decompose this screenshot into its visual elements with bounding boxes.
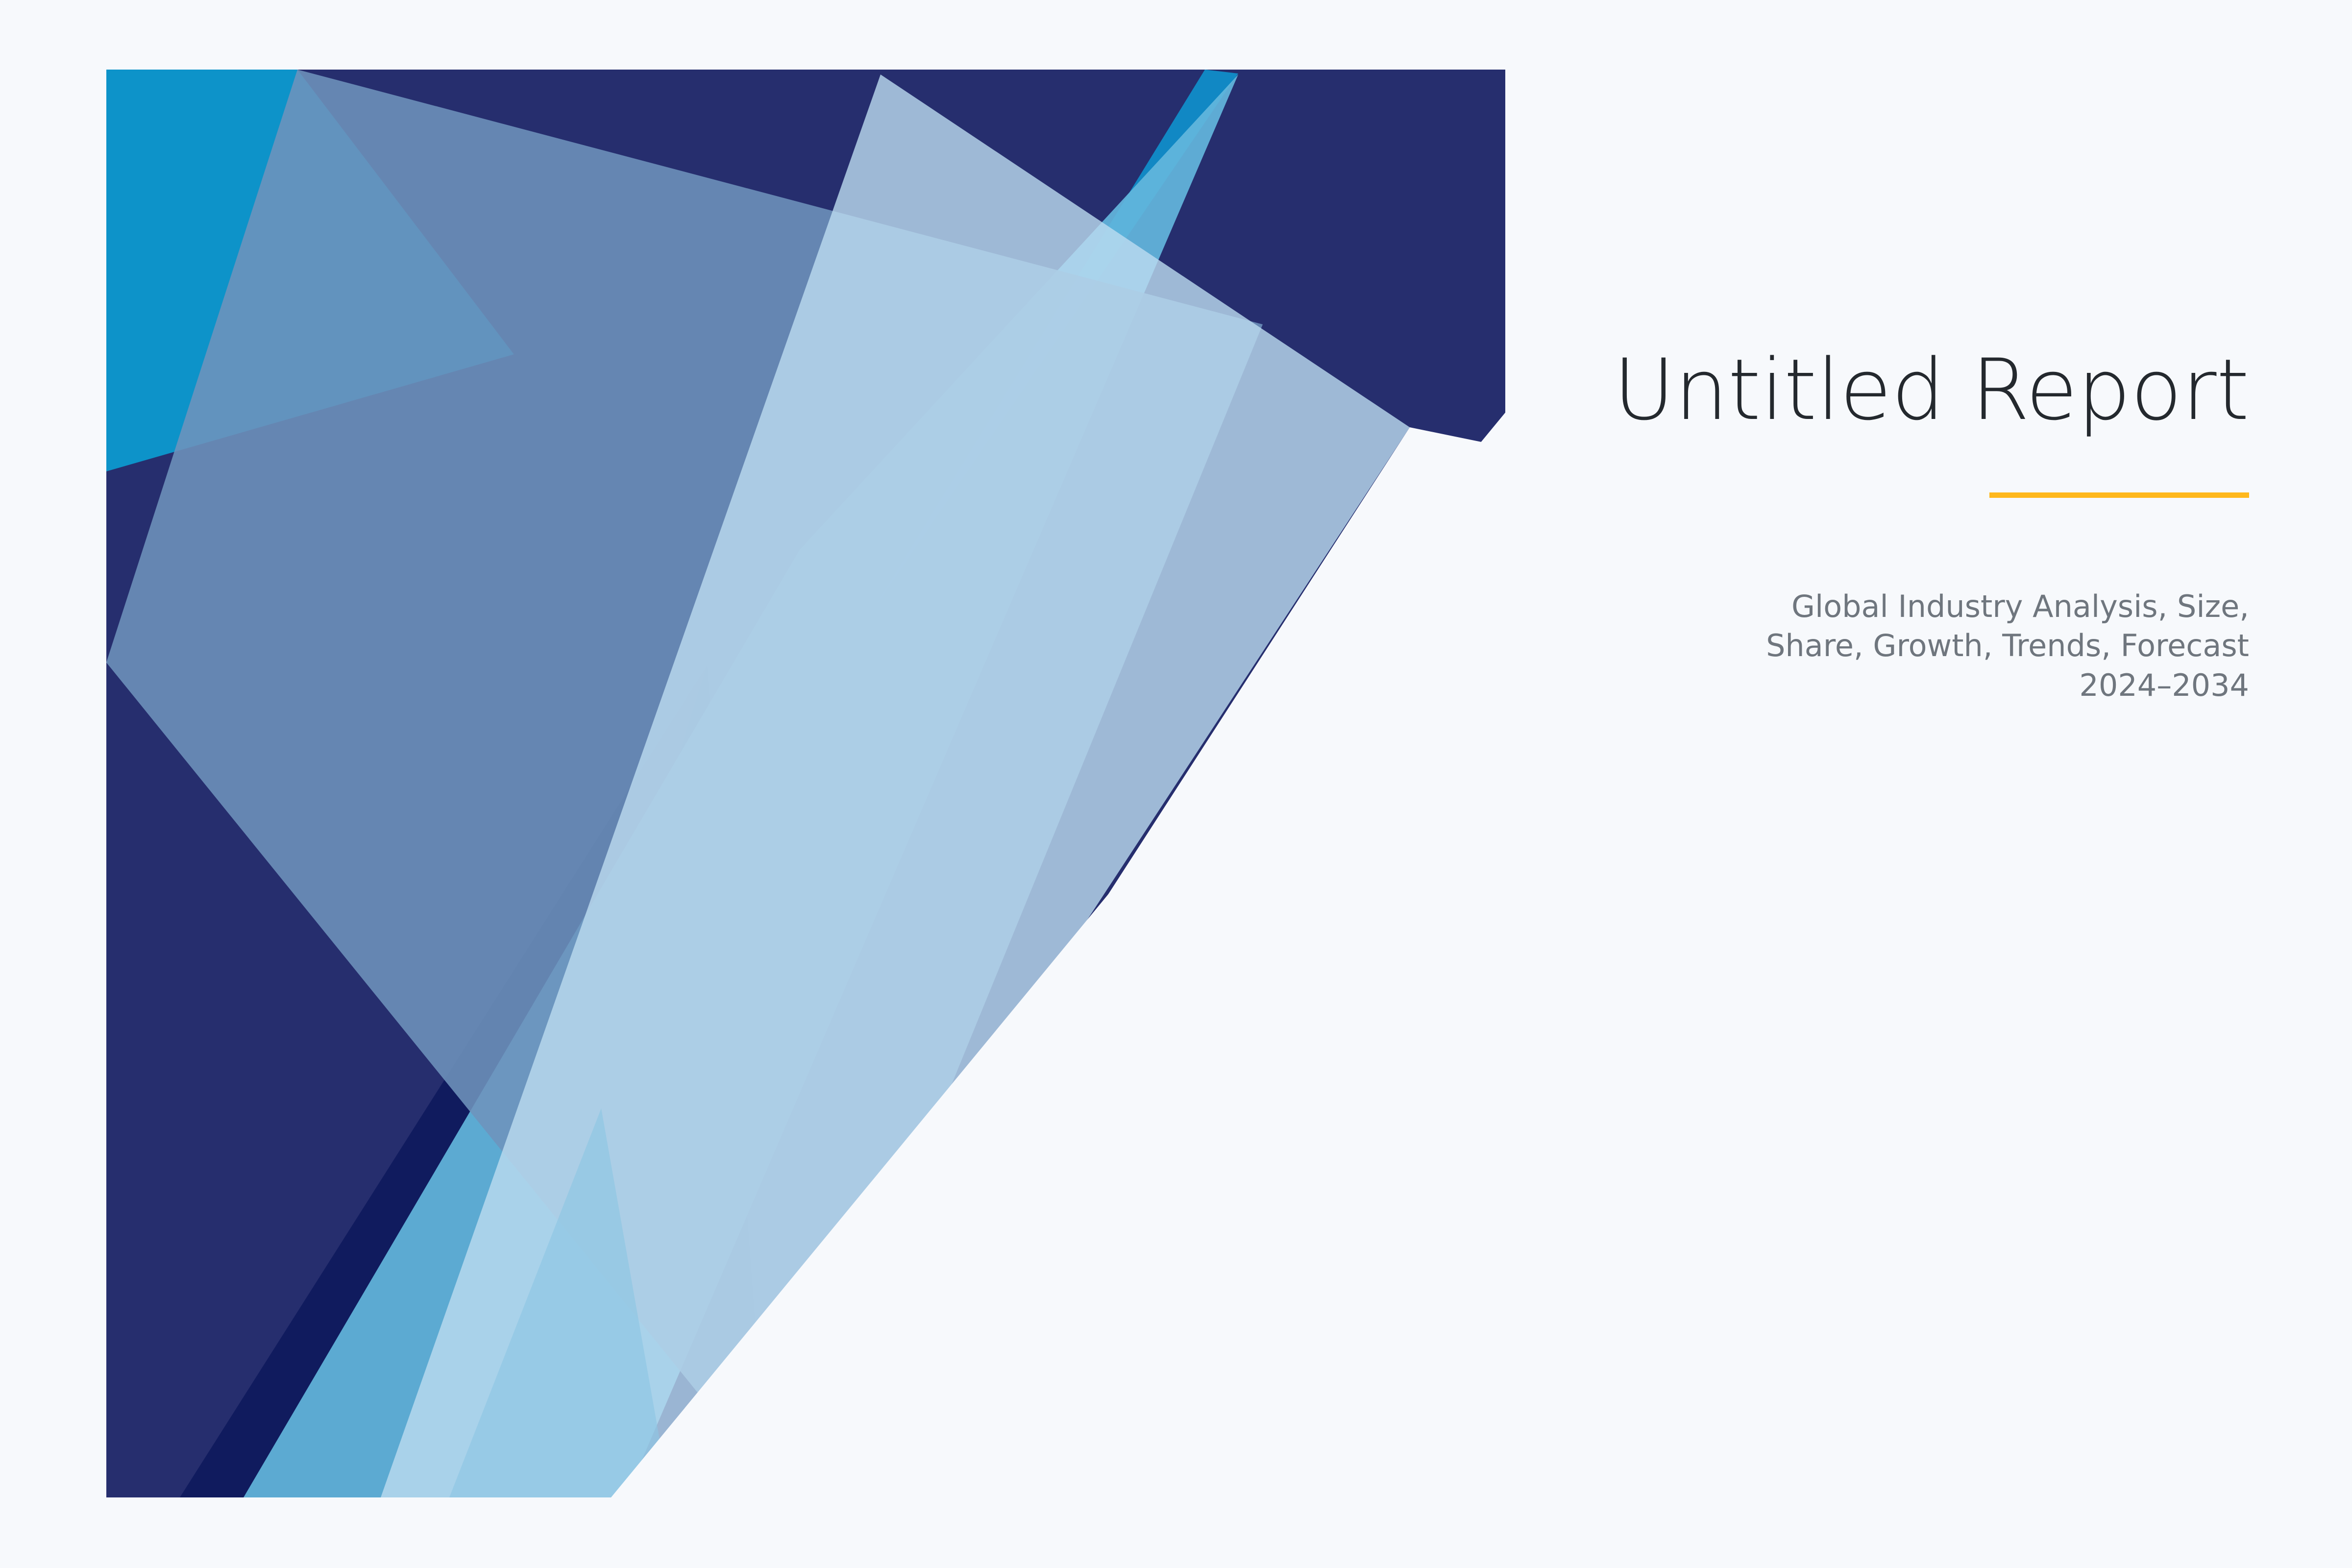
accent-rule-container (1543, 492, 2249, 498)
cover-artwork (106, 70, 1505, 1497)
report-subtitle: Global Industry Analysis, Size, Share, G… (1759, 587, 2249, 706)
title-block: Untitled Report Global Industry Analysis… (1543, 343, 2249, 735)
report-cover-page: Untitled Report Global Industry Analysis… (0, 0, 2352, 1568)
page-title: Untitled Report (1543, 343, 2249, 438)
cover-artwork-svg (106, 70, 1505, 1497)
accent-rule (1989, 492, 2249, 498)
